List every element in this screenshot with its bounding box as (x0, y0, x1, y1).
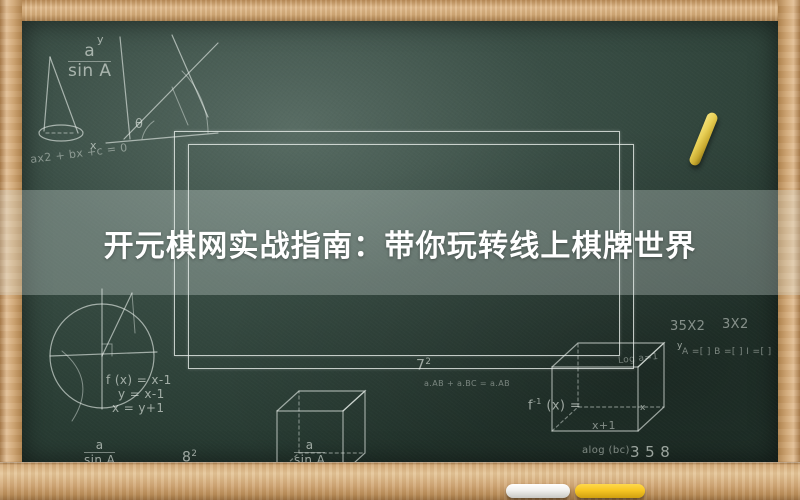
chalk-power-eight: 82 (182, 449, 197, 462)
chalk-tail-expression: x+1 (592, 419, 616, 432)
chalk-sum-row-1: 3 5 8 (630, 443, 670, 461)
fraction-denominator: sin A (294, 452, 325, 462)
chalk-log-expression: alog (bc) (582, 445, 630, 456)
yellow-chalk-piece (575, 484, 645, 498)
chalk-matrix-label-3x2: 3X2 (722, 317, 749, 332)
chalk-angle-theta: θ (135, 117, 143, 132)
chalk-axis-label-y-right: y (677, 341, 683, 351)
banner-title: 开元棋网实战指南：带你玩转线上棋牌世界 (104, 221, 697, 265)
chalk-matrix-expression: A =[ ] B =[ ] I =[ ] (682, 347, 772, 357)
inverse-function-argument: (x) = (546, 398, 581, 413)
yellow-chalk-stick (688, 111, 719, 167)
fraction-numerator: a (294, 439, 325, 452)
blackboard-banner: a sin A y x θ ax2 + bx +c = 0 f (x) = x-… (0, 0, 800, 500)
chalk-quadratic-equation: ax2 + bx +c = 0 (30, 141, 129, 166)
wood-frame-bottom-ledge (0, 462, 800, 500)
angle-diagram (106, 35, 218, 143)
chalk-fraction-a-sin-a-center: a sin A (294, 439, 325, 462)
chalk-function-line-3: x = y+1 (112, 401, 164, 415)
white-chalk-piece (506, 484, 570, 498)
fraction-denominator: sin A (68, 61, 111, 81)
fraction-numerator: a (84, 439, 115, 452)
title-band: 开元棋网实战指南：带你玩转线上棋牌世界 (0, 190, 800, 295)
chalk-function-line-2: y = x-1 (118, 387, 165, 401)
power-eight-exponent: 2 (191, 449, 197, 459)
chalk-inverse-function: f-1 (x) = (528, 397, 581, 413)
power-eight-base: 8 (182, 450, 191, 462)
fraction-numerator: a (68, 43, 111, 61)
fraction-denominator: sin A (84, 452, 115, 462)
chalk-small-formula: a.AB + a.BC = a.AB (424, 379, 510, 388)
chalk-function-line-1: f (x) = x-1 (106, 373, 172, 387)
wood-frame-top (0, 0, 800, 21)
chalk-fraction-a-sin-a-left: a sin A (84, 439, 115, 462)
chalk-matrix-label-35x2: 35X2 (670, 319, 705, 334)
chalk-fraction-a-sin-a-topleft: a sin A (68, 43, 111, 81)
inverse-function-exponent: -1 (533, 397, 542, 406)
chalk-axis-label-x-right: x (640, 403, 646, 413)
chalk-axis-label-y-topleft: y (97, 33, 104, 46)
